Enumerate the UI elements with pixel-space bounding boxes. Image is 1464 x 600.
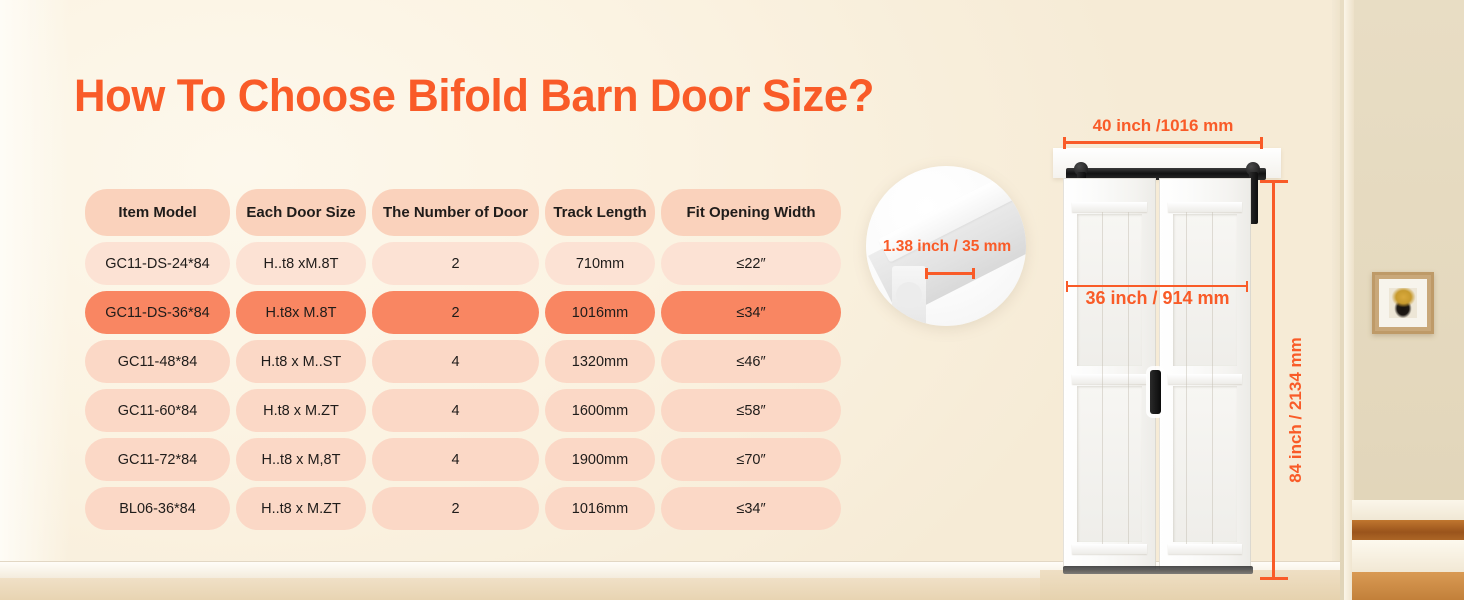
cell-track-length: 1900mm (545, 438, 655, 481)
cell-item-model: BL06-36*84 (85, 487, 230, 530)
panel-rail-middle (1168, 374, 1243, 384)
cell-number-of-door: 2 (372, 291, 539, 334)
column-header-each-door-size: Each Door Size (236, 189, 366, 236)
table-row[interactable]: GC11-48*84 H.t8 x M..ST 4 1320mm ≤46″ (85, 340, 841, 383)
panel-recess-lower (1173, 386, 1238, 542)
dimension-cap-right (972, 268, 975, 279)
right-baseboard (1352, 500, 1464, 522)
infographic-canvas: How To Choose Bifold Barn Door Size? Ite… (0, 0, 1464, 600)
cell-number-of-door: 2 (372, 487, 539, 530)
panel-groove (1128, 212, 1129, 544)
cell-fit-opening-width: ≤46″ (661, 340, 841, 383)
framed-picture (1372, 272, 1434, 334)
door-width-label: 36 inch / 914 mm (1050, 288, 1265, 309)
door-bottom-shadow (1063, 566, 1253, 574)
panel-rail-bottom (1168, 544, 1243, 554)
cell-each-door-size: H.t8 x M..ST (236, 340, 366, 383)
thickness-label: 1.38 inch / 35 mm (862, 238, 1032, 256)
cell-each-door-size: H..t8 x M.ZT (236, 487, 366, 530)
cell-fit-opening-width: ≤22″ (661, 242, 841, 285)
cell-number-of-door: 4 (372, 340, 539, 383)
cell-fit-opening-width: ≤70″ (661, 438, 841, 481)
track-width-label: 40 inch /1016 mm (1063, 116, 1263, 136)
panel-groove (1102, 212, 1103, 544)
panel-rail-bottom (1072, 544, 1147, 554)
door-edge-knob (896, 282, 922, 308)
door-panel-right (1159, 178, 1252, 570)
table-header-row: Item Model Each Door Size The Number of … (85, 189, 841, 236)
door-handle (1150, 370, 1161, 414)
column-header-item-model: Item Model (85, 189, 230, 236)
cell-item-model: GC11-DS-24*84 (85, 242, 230, 285)
page-title: How To Choose Bifold Barn Door Size? (74, 70, 874, 122)
cell-number-of-door: 2 (372, 242, 539, 285)
cell-fit-opening-width: ≤58″ (661, 389, 841, 432)
cell-track-length: 710mm (545, 242, 655, 285)
cell-item-model: GC11-72*84 (85, 438, 230, 481)
door-height-label: 84 inch / 2134 mm (1286, 330, 1306, 490)
dimension-line (1066, 285, 1248, 287)
cell-each-door-size: H.t8x M.8T (236, 291, 366, 334)
cell-each-door-size: H..t8 x M,8T (236, 438, 366, 481)
table-row[interactable]: BL06-36*84 H..t8 x M.ZT 2 1016mm ≤34″ (85, 487, 841, 530)
picture-artwork (1389, 288, 1417, 318)
cell-fit-opening-width: ≤34″ (661, 291, 841, 334)
dimension-cap-left (1063, 137, 1066, 149)
cell-track-length: 1600mm (545, 389, 655, 432)
cell-item-model: GC11-48*84 (85, 340, 230, 383)
right-step-riser (1352, 540, 1464, 574)
table-row[interactable]: GC11-72*84 H..t8 x M,8T 4 1900mm ≤70″ (85, 438, 841, 481)
column-header-number-of-door: The Number of Door (372, 189, 539, 236)
column-header-track-length: Track Length (545, 189, 655, 236)
dimension-cap-left (925, 268, 928, 279)
cell-number-of-door: 4 (372, 438, 539, 481)
door-panel-left (1063, 178, 1156, 570)
table-row-highlighted[interactable]: GC11-DS-36*84 H.t8x M.8T 2 1016mm ≤34″ (85, 291, 841, 334)
dimension-line (1063, 141, 1263, 144)
column-header-fit-opening-width: Fit Opening Width (661, 189, 841, 236)
right-wood-floor-lower (1352, 572, 1464, 600)
cell-fit-opening-width: ≤34″ (661, 487, 841, 530)
right-wood-floor-upper (1352, 520, 1464, 542)
dimension-cap-right (1260, 137, 1263, 149)
table-row[interactable]: GC11-DS-24*84 H..t8 xM.8T 2 710mm ≤22″ (85, 242, 841, 285)
panel-rail-middle (1072, 374, 1147, 384)
cell-item-model: GC11-DS-36*84 (85, 291, 230, 334)
panel-groove (1186, 212, 1187, 544)
door-floor (1040, 570, 1340, 600)
table-row[interactable]: GC11-60*84 H.t8 x M.ZT 4 1600mm ≤58″ (85, 389, 841, 432)
cell-each-door-size: H.t8 x M.ZT (236, 389, 366, 432)
panel-rail-top (1168, 202, 1243, 212)
panel-rail-top (1072, 202, 1147, 212)
cell-number-of-door: 4 (372, 389, 539, 432)
cell-track-length: 1016mm (545, 487, 655, 530)
height-dimension-cap-bottom (1260, 577, 1288, 580)
track-width-dimension-line (1063, 137, 1263, 149)
dimension-line (925, 272, 975, 275)
thickness-dimension-line (925, 268, 975, 278)
panel-recess-lower (1077, 386, 1142, 542)
door-height-dimension-line (1272, 180, 1275, 580)
cell-track-length: 1320mm (545, 340, 655, 383)
cell-each-door-size: H..t8 xM.8T (236, 242, 366, 285)
cell-track-length: 1016mm (545, 291, 655, 334)
size-table: Item Model Each Door Size The Number of … (85, 189, 841, 536)
cell-item-model: GC11-60*84 (85, 389, 230, 432)
panel-groove (1212, 212, 1213, 544)
